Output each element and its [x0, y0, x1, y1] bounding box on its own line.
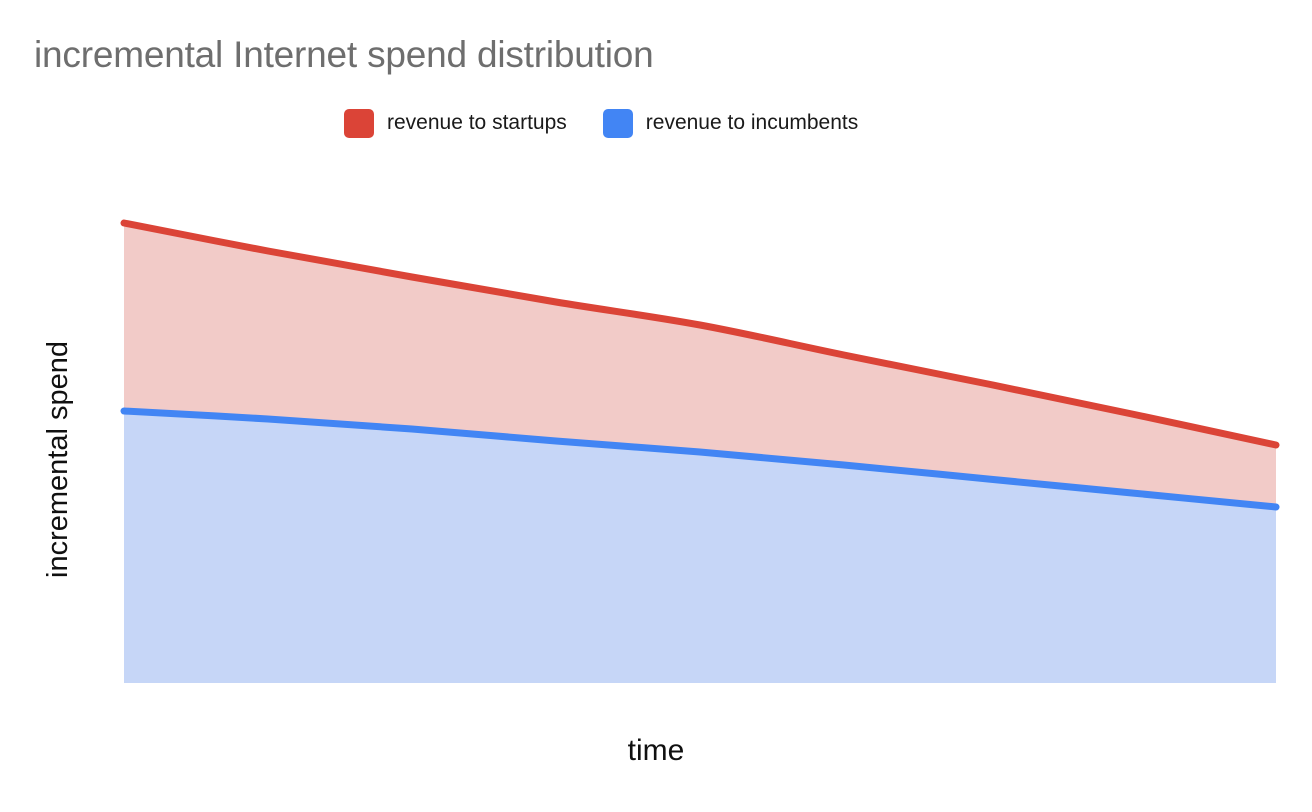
chart-container: incremental Internet spend distribution … — [0, 0, 1312, 812]
x-axis-label: time — [0, 731, 1312, 771]
plot-area — [0, 0, 1312, 812]
plot-svg — [0, 0, 1312, 812]
y-axis-label: incremental spend — [38, 238, 78, 578]
